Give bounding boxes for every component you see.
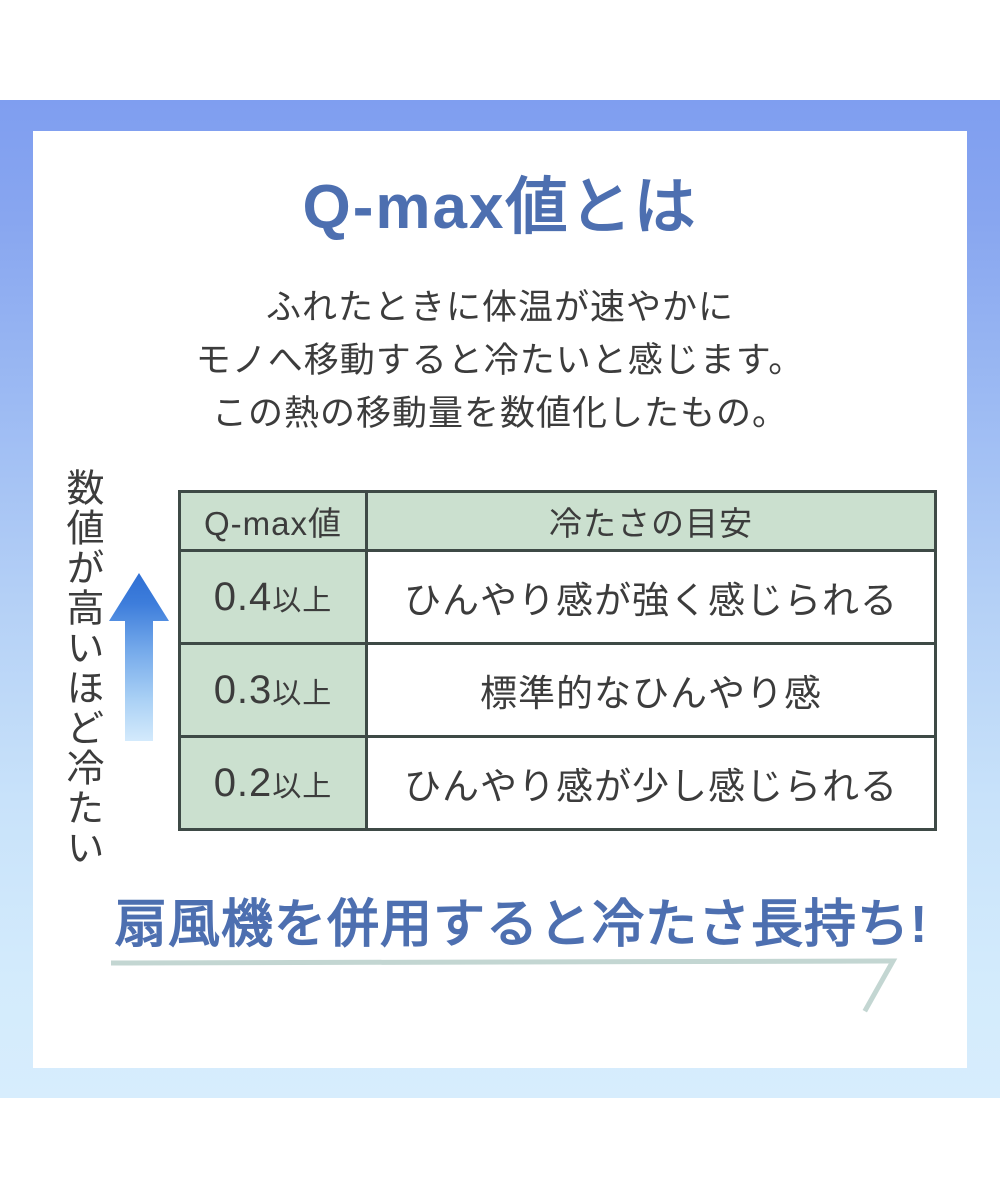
qmax-infographic-page: Q-max値とは ふれたときに体温が速やかに モノへ移動すると冷たいと感じます。… [0, 0, 1000, 1200]
cell-qmax-value: 0.3以上 [180, 644, 367, 737]
cell-feel-description: 標準的なひんやり感 [367, 644, 936, 737]
description-block: ふれたときに体温が速やかに モノへ移動すると冷たいと感じます。 この熱の移動量を… [33, 281, 967, 440]
value-number: 0.3 [214, 668, 273, 712]
value-number: 0.2 [214, 761, 273, 805]
description-line-1: ふれたときに体温が速やかに [33, 281, 967, 334]
vertical-caption-label: 数値が高いほど冷たい [57, 468, 103, 868]
table-row: 0.4以上 ひんやり感が強く感じられる [180, 551, 936, 644]
page-title: Q-max値とは [33, 177, 967, 239]
underline-decoration [111, 957, 911, 1017]
arrow-up-icon [108, 571, 170, 743]
value-suffix: 以上 [272, 585, 332, 617]
value-suffix: 以上 [272, 771, 332, 803]
description-line-2: モノへ移動すると冷たいと感じます。 [33, 334, 967, 387]
white-content-panel: Q-max値とは ふれたときに体温が速やかに モノへ移動すると冷たいと感じます。… [33, 131, 967, 1068]
table-row: 0.2以上 ひんやり感が少し感じられる [180, 737, 936, 830]
cell-feel-description: ひんやり感が少し感じられる [367, 737, 936, 830]
column-header-feel: 冷たさの目安 [367, 492, 936, 551]
column-header-qmax: Q-max値 [180, 492, 367, 551]
cell-feel-description: ひんやり感が強く感じられる [367, 551, 936, 644]
table-header-row: Q-max値 冷たさの目安 [180, 492, 936, 551]
table-row: 0.3以上 標準的なひんやり感 [180, 644, 936, 737]
cell-qmax-value: 0.4以上 [180, 551, 367, 644]
qmax-reference-table: Q-max値 冷たさの目安 0.4以上 ひんやり感が強く感じられる 0.3以上 … [178, 490, 937, 831]
value-suffix: 以上 [272, 678, 332, 710]
description-line-3: この熱の移動量を数値化したもの。 [33, 387, 967, 440]
value-number: 0.4 [214, 575, 273, 619]
footer-headline: 扇風機を併用すると冷たさ長持ち! [115, 897, 928, 954]
cell-qmax-value: 0.2以上 [180, 737, 367, 830]
